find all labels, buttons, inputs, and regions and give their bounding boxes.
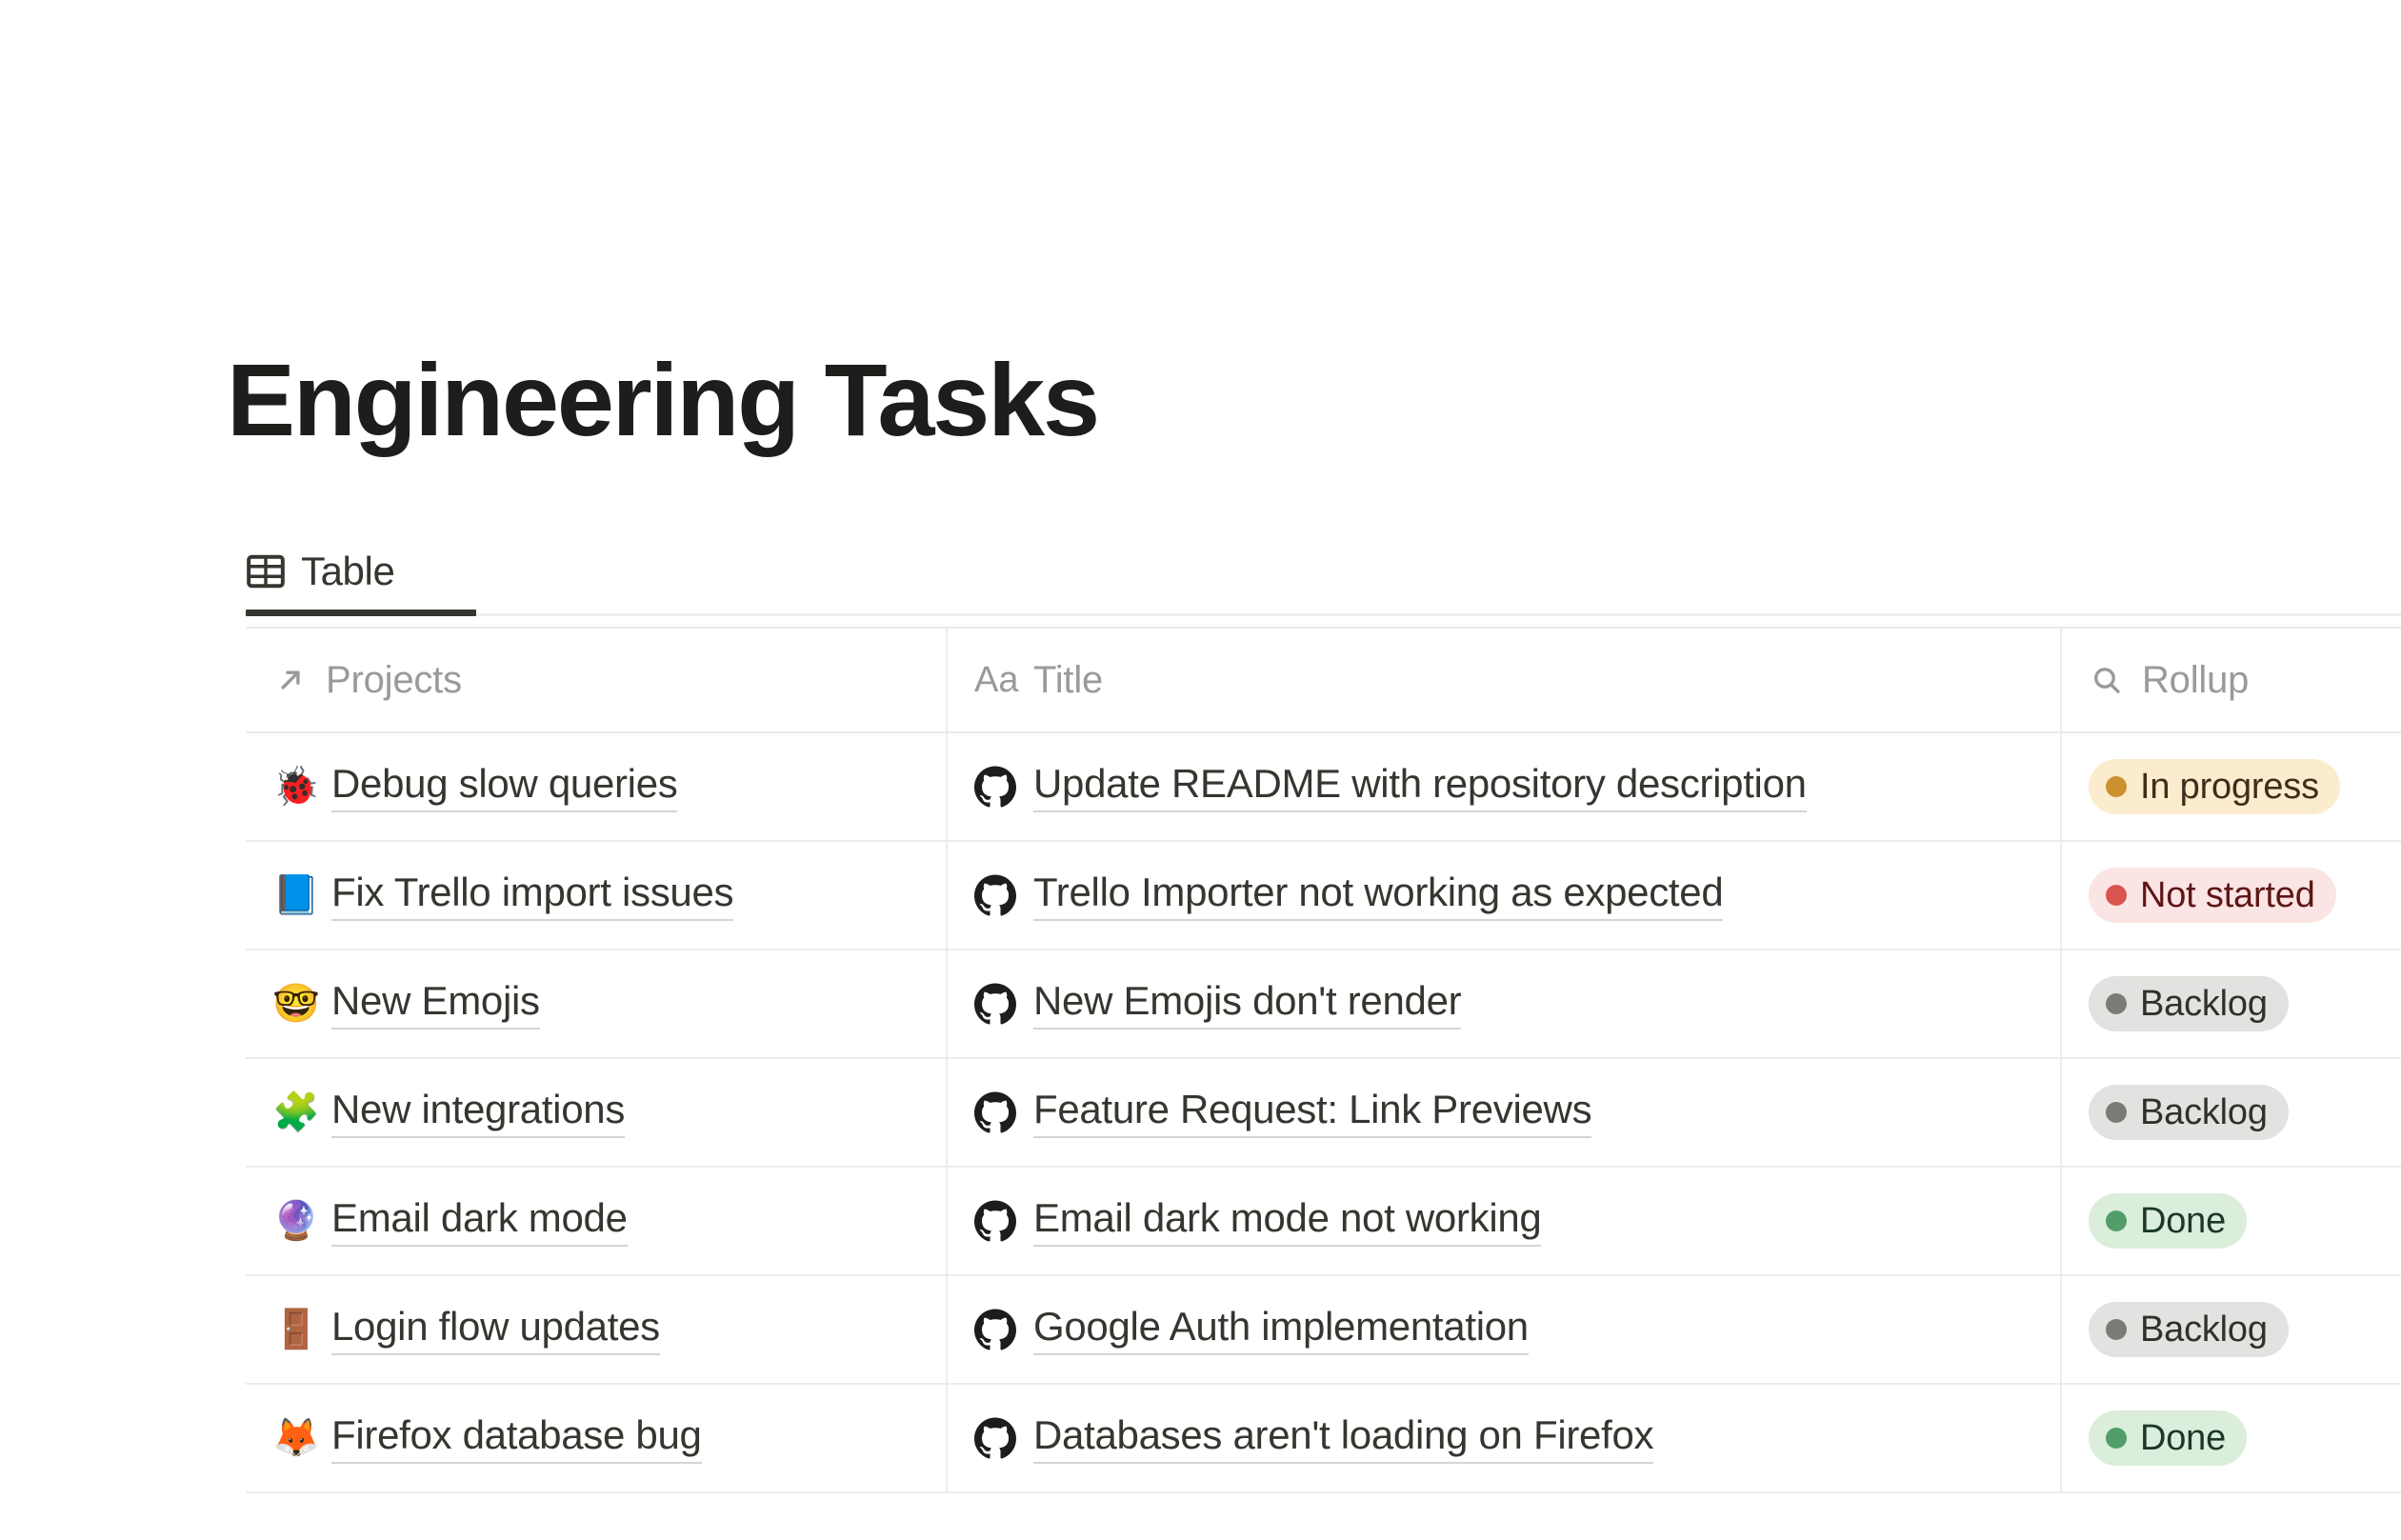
tab-table-label: Table: [301, 549, 394, 594]
table-row: 🤓 New Emojis New Emojis don't render Bac…: [246, 950, 2401, 1059]
project-link[interactable]: Firefox database bug: [331, 1412, 702, 1464]
issue-link[interactable]: Databases aren't loading on Firefox: [1033, 1412, 1653, 1464]
cell-title[interactable]: New Emojis don't render: [948, 950, 2062, 1057]
github-icon: [974, 983, 1016, 1025]
cell-rollup[interactable]: Backlog: [2062, 1059, 2401, 1166]
puzzle-piece-emoji: 🧩: [272, 1093, 314, 1131]
github-icon: [974, 874, 1016, 916]
status-label: Done: [2140, 1201, 2226, 1242]
status-dot: [2106, 776, 2127, 797]
view-tab-bar: Table: [246, 530, 2401, 619]
view-tab-bar-divider: [246, 613, 2401, 616]
column-header-projects[interactable]: Projects: [246, 629, 948, 731]
github-icon: [974, 1200, 1016, 1242]
issue-link[interactable]: Email dark mode not working: [1033, 1195, 1541, 1247]
table-header-row: Projects Aa Title Rollup: [246, 629, 2401, 733]
table-grid-icon: [246, 551, 286, 591]
table-row: 🧩 New integrations Feature Request: Link…: [246, 1059, 2401, 1168]
status-label: In progress: [2140, 767, 2319, 808]
status-label: Backlog: [2140, 1310, 2268, 1350]
project-link[interactable]: New integrations: [331, 1087, 625, 1138]
cell-projects[interactable]: 🦊 Firefox database bug: [246, 1385, 948, 1491]
relation-arrow-icon: [272, 662, 309, 698]
status-badge[interactable]: Backlog: [2089, 1085, 2289, 1140]
status-label: Backlog: [2140, 1092, 2268, 1133]
cell-rollup[interactable]: Done: [2062, 1385, 2401, 1491]
status-badge[interactable]: Done: [2089, 1193, 2247, 1249]
issue-link[interactable]: New Emojis don't render: [1033, 978, 1461, 1030]
status-label: Done: [2140, 1418, 2226, 1459]
fox-emoji: 🦊: [272, 1419, 314, 1457]
page-title: Engineering Tasks: [227, 343, 1098, 458]
issue-link[interactable]: Update README with repository descriptio…: [1033, 761, 1807, 812]
nerd-face-emoji: 🤓: [272, 985, 314, 1023]
door-emoji: 🚪: [272, 1310, 314, 1349]
github-icon: [974, 1417, 1016, 1459]
status-dot: [2106, 1102, 2127, 1123]
table-row: 📘 Fix Trello import issues Trello Import…: [246, 842, 2401, 950]
project-link[interactable]: Login flow updates: [331, 1304, 660, 1355]
status-label: Backlog: [2140, 984, 2268, 1025]
database-table: Projects Aa Title Rollup: [246, 627, 2401, 1493]
crystal-ball-emoji: 🔮: [272, 1202, 314, 1240]
github-icon: [974, 1309, 1016, 1350]
tab-active-indicator: [246, 610, 476, 616]
cell-rollup[interactable]: Backlog: [2062, 950, 2401, 1057]
cell-projects[interactable]: 🚪 Login flow updates: [246, 1276, 948, 1383]
column-header-rollup-label: Rollup: [2142, 659, 2249, 702]
status-badge[interactable]: Backlog: [2089, 1302, 2289, 1357]
table-row: 🚪 Login flow updates Google Auth impleme…: [246, 1276, 2401, 1385]
title-aa-icon: Aa: [974, 662, 1016, 698]
cell-title[interactable]: Email dark mode not working: [948, 1168, 2062, 1274]
status-dot: [2106, 885, 2127, 906]
cell-projects[interactable]: 🐞 Debug slow queries: [246, 733, 948, 840]
project-link[interactable]: Debug slow queries: [331, 761, 677, 812]
status-badge[interactable]: Not started: [2089, 868, 2336, 923]
cell-rollup[interactable]: Not started: [2062, 842, 2401, 949]
project-link[interactable]: Email dark mode: [331, 1195, 628, 1247]
issue-link[interactable]: Feature Request: Link Previews: [1033, 1087, 1591, 1138]
cell-title[interactable]: Feature Request: Link Previews: [948, 1059, 2062, 1166]
table-row: 🦊 Firefox database bug Databases aren't …: [246, 1385, 2401, 1493]
notion-database-page: Engineering Tasks Table: [0, 0, 2401, 1540]
cell-projects[interactable]: 📘 Fix Trello import issues: [246, 842, 948, 949]
project-link[interactable]: Fix Trello import issues: [331, 870, 733, 921]
github-icon: [974, 1091, 1016, 1133]
project-link[interactable]: New Emojis: [331, 978, 540, 1030]
ladybug-emoji: 🐞: [272, 768, 314, 806]
cell-title[interactable]: Google Auth implementation: [948, 1276, 2062, 1383]
status-badge[interactable]: Backlog: [2089, 976, 2289, 1031]
status-dot: [2106, 1210, 2127, 1231]
issue-link[interactable]: Trello Importer not working as expected: [1033, 870, 1723, 921]
column-header-title-label: Title: [1033, 659, 1103, 702]
status-dot: [2106, 1319, 2127, 1340]
blue-book-emoji: 📘: [272, 876, 314, 914]
column-header-projects-label: Projects: [326, 659, 462, 702]
cell-projects[interactable]: 🤓 New Emojis: [246, 950, 948, 1057]
cell-rollup[interactable]: In progress: [2062, 733, 2401, 840]
cell-title[interactable]: Databases aren't loading on Firefox: [948, 1385, 2062, 1491]
cell-projects[interactable]: 🔮 Email dark mode: [246, 1168, 948, 1274]
status-dot: [2106, 993, 2127, 1014]
column-header-title[interactable]: Aa Title: [948, 629, 2062, 731]
cell-title[interactable]: Update README with repository descriptio…: [948, 733, 2062, 840]
tab-table[interactable]: Table: [246, 530, 408, 613]
status-label: Not started: [2140, 875, 2315, 916]
column-header-rollup[interactable]: Rollup: [2062, 629, 2401, 731]
issue-link[interactable]: Google Auth implementation: [1033, 1304, 1529, 1355]
table-row: 🔮 Email dark mode Email dark mode not wo…: [246, 1168, 2401, 1276]
magnifier-icon: [2089, 662, 2125, 698]
status-dot: [2106, 1428, 2127, 1449]
status-badge[interactable]: In progress: [2089, 759, 2340, 814]
cell-projects[interactable]: 🧩 New integrations: [246, 1059, 948, 1166]
github-icon: [974, 766, 1016, 808]
cell-rollup[interactable]: Done: [2062, 1168, 2401, 1274]
table-body: 🐞 Debug slow queries Update README with …: [246, 733, 2401, 1493]
status-badge[interactable]: Done: [2089, 1410, 2247, 1466]
cell-rollup[interactable]: Backlog: [2062, 1276, 2401, 1383]
table-row: 🐞 Debug slow queries Update README with …: [246, 733, 2401, 842]
cell-title[interactable]: Trello Importer not working as expected: [948, 842, 2062, 949]
